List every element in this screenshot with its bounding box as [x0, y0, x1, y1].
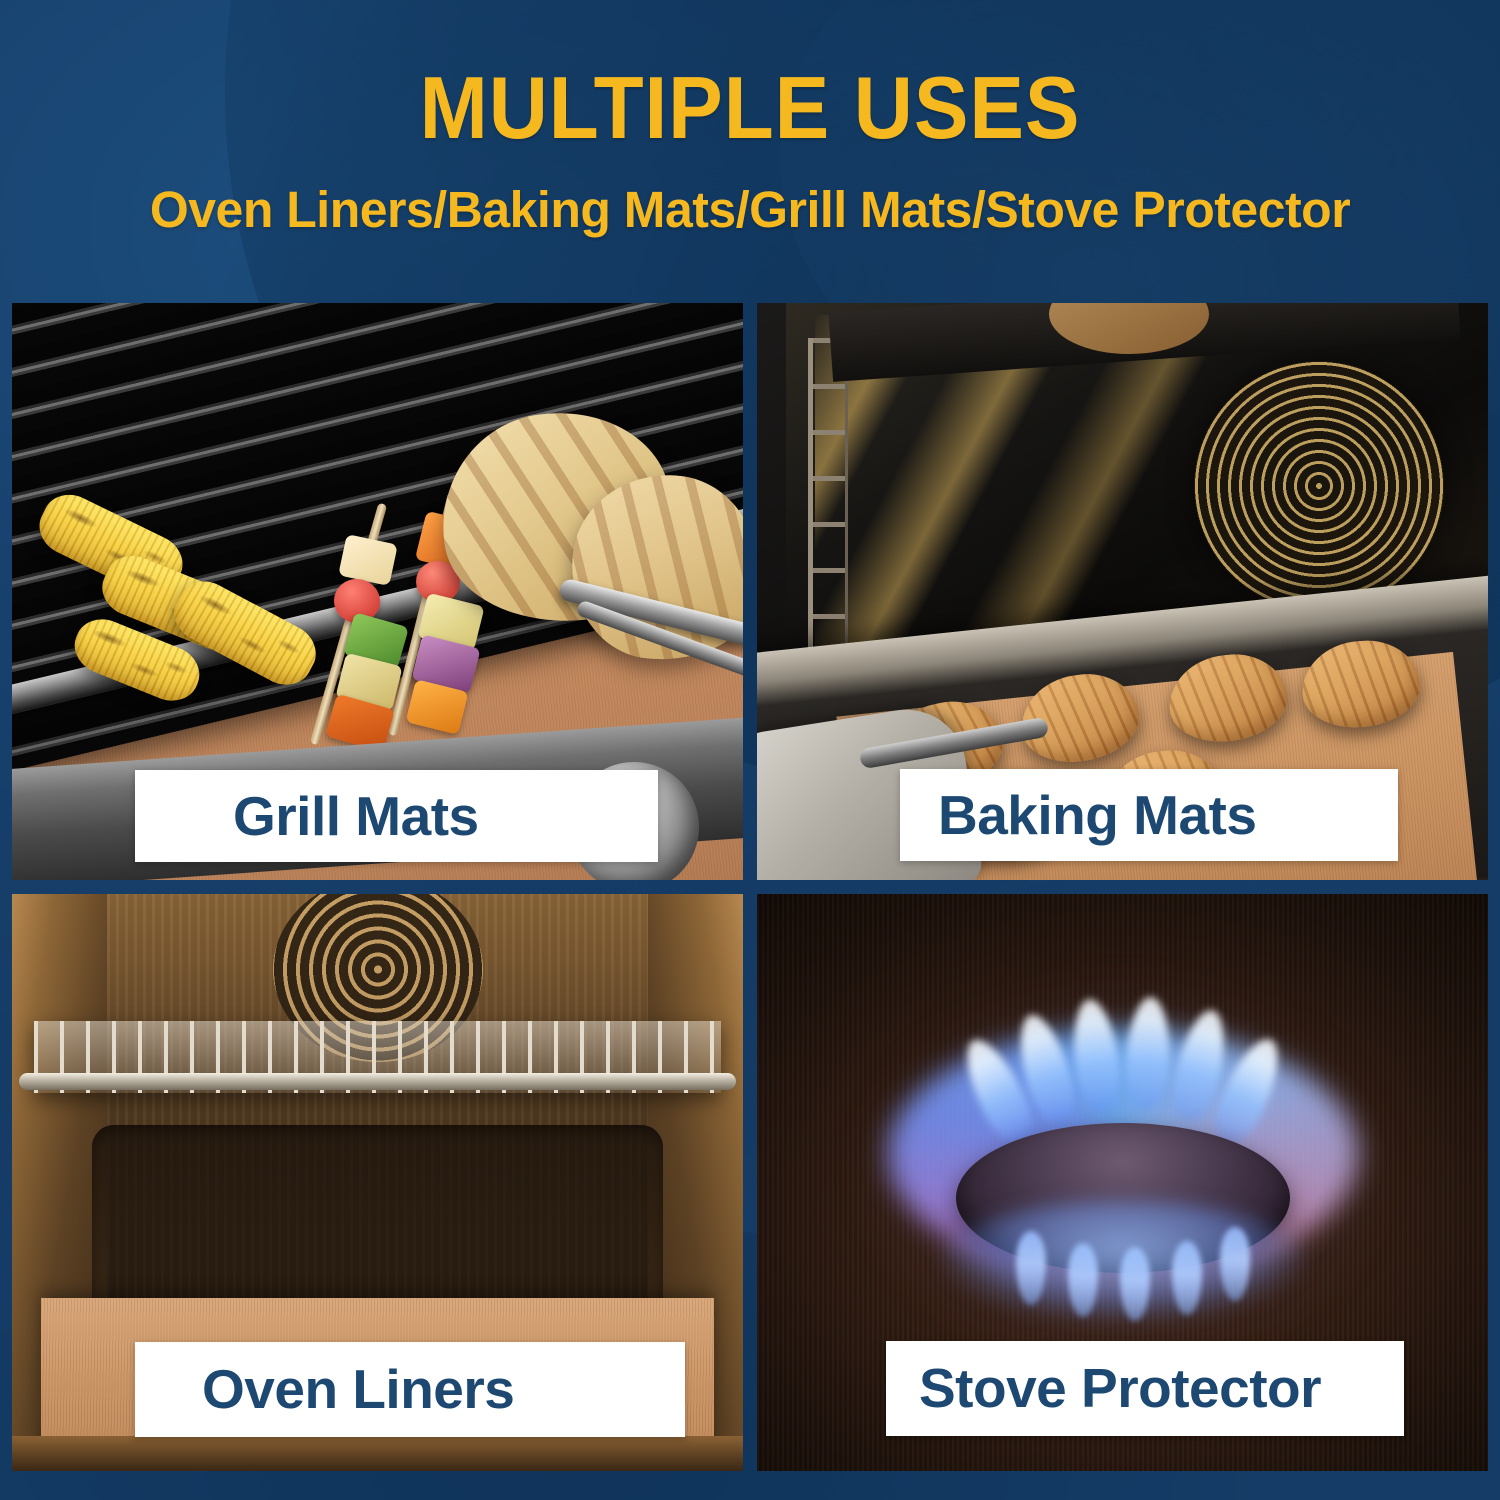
flame-base-glow [940, 1201, 1306, 1321]
label-baking-mats: Baking Mats [900, 769, 1398, 861]
page-title: MULTIPLE USES [53, 62, 1448, 154]
oven-rack-front-bar [19, 1073, 735, 1090]
label-stove-protector: Stove Protector [886, 1341, 1404, 1436]
label-oven-liners: Oven Liners [135, 1342, 685, 1437]
convection-fan-cover-icon [1194, 361, 1444, 611]
page-subtitle: Oven Liners/Baking Mats/Grill Mats/Stove… [15, 180, 1485, 240]
poster-header: MULTIPLE USES Oven Liners/Baking Mats/Gr… [0, 0, 1500, 296]
oven-floor-edge [12, 1436, 743, 1471]
label-grill-mats: Grill Mats [135, 770, 658, 862]
gas-burner [888, 1005, 1358, 1335]
oven-rack-rail [808, 338, 848, 684]
product-feature-poster: MULTIPLE USES Oven Liners/Baking Mats/Gr… [0, 0, 1500, 1500]
feature-photo-grid: Grill Mats Baking Mats [12, 303, 1488, 1467]
oven-door-lip [92, 1125, 662, 1327]
